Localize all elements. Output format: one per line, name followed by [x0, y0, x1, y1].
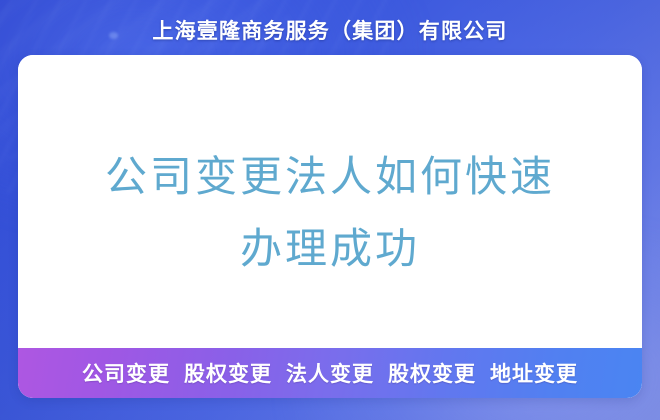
main-title-line-2: 办理成功	[46, 213, 614, 285]
main-title-line-1: 公司变更法人如何快速	[46, 141, 614, 213]
content-card: 公司变更法人如何快速 办理成功 公司变更 股权变更 法人变更 股权变更 地址变更	[18, 55, 642, 398]
card-body: 公司变更法人如何快速 办理成功	[18, 55, 642, 348]
tag-item-2[interactable]: 股权变更	[184, 358, 272, 388]
tag-bar: 公司变更 股权变更 法人变更 股权变更 地址变更	[18, 348, 642, 398]
poster-canvas: 上海壹隆商务服务（集团）有限公司 公司变更法人如何快速 办理成功 公司变更 股权…	[0, 0, 660, 420]
header: 上海壹隆商务服务（集团）有限公司	[0, 15, 660, 45]
tag-item-1[interactable]: 公司变更	[82, 358, 170, 388]
tag-item-3[interactable]: 法人变更	[286, 358, 374, 388]
tag-item-4[interactable]: 股权变更	[388, 358, 476, 388]
company-name-title: 上海壹隆商务服务（集团）有限公司	[152, 15, 507, 45]
tag-item-5[interactable]: 地址变更	[490, 358, 578, 388]
main-title: 公司变更法人如何快速 办理成功	[18, 141, 642, 285]
